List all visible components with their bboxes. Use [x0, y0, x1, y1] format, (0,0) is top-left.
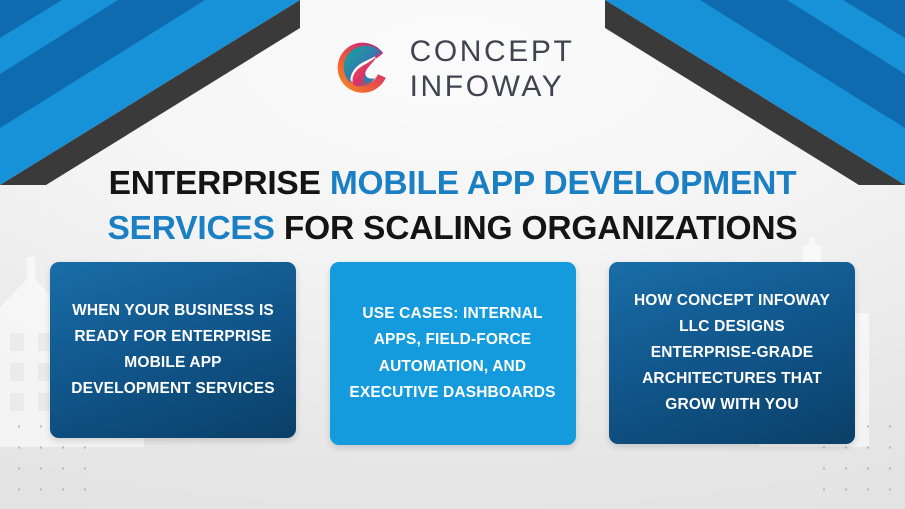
topic-card-1-text: WHEN YOUR BUSINESS IS READY FOR ENTERPRI… [66, 298, 280, 402]
topic-card-3-text: HOW CONCEPT INFOWAY LLC DESIGNS ENTERPRI… [625, 288, 839, 418]
topic-card-3[interactable]: HOW CONCEPT INFOWAY LLC DESIGNS ENTERPRI… [609, 262, 855, 444]
brand-logo-line-1: CONCEPT [410, 37, 575, 67]
headline-part-2: FOR SCALING ORGANIZATIONS [275, 210, 798, 247]
brand-logo-wordmark: CONCEPT INFOWAY [410, 37, 575, 102]
page-title: ENTERPRISE MOBILE APP DEVELOPMENT SERVIC… [50, 162, 855, 251]
promo-banner: CONCEPT INFOWAY ENTERPRISE MOBILE APP DE… [0, 0, 905, 509]
brand-logo-line-2: INFOWAY [410, 72, 575, 102]
topic-card-1[interactable]: WHEN YOUR BUSINESS IS READY FOR ENTERPRI… [50, 262, 296, 438]
brand-logo: CONCEPT INFOWAY [0, 36, 905, 102]
topic-card-list: WHEN YOUR BUSINESS IS READY FOR ENTERPRI… [50, 262, 855, 445]
topic-card-2-text: USE CASES: INTERNAL APPS, FIELD-FORCE AU… [346, 301, 560, 405]
headline-part-1: ENTERPRISE [109, 165, 330, 202]
topic-card-2[interactable]: USE CASES: INTERNAL APPS, FIELD-FORCE AU… [330, 262, 576, 445]
concept-infoway-swirl-logo-icon [331, 36, 397, 102]
